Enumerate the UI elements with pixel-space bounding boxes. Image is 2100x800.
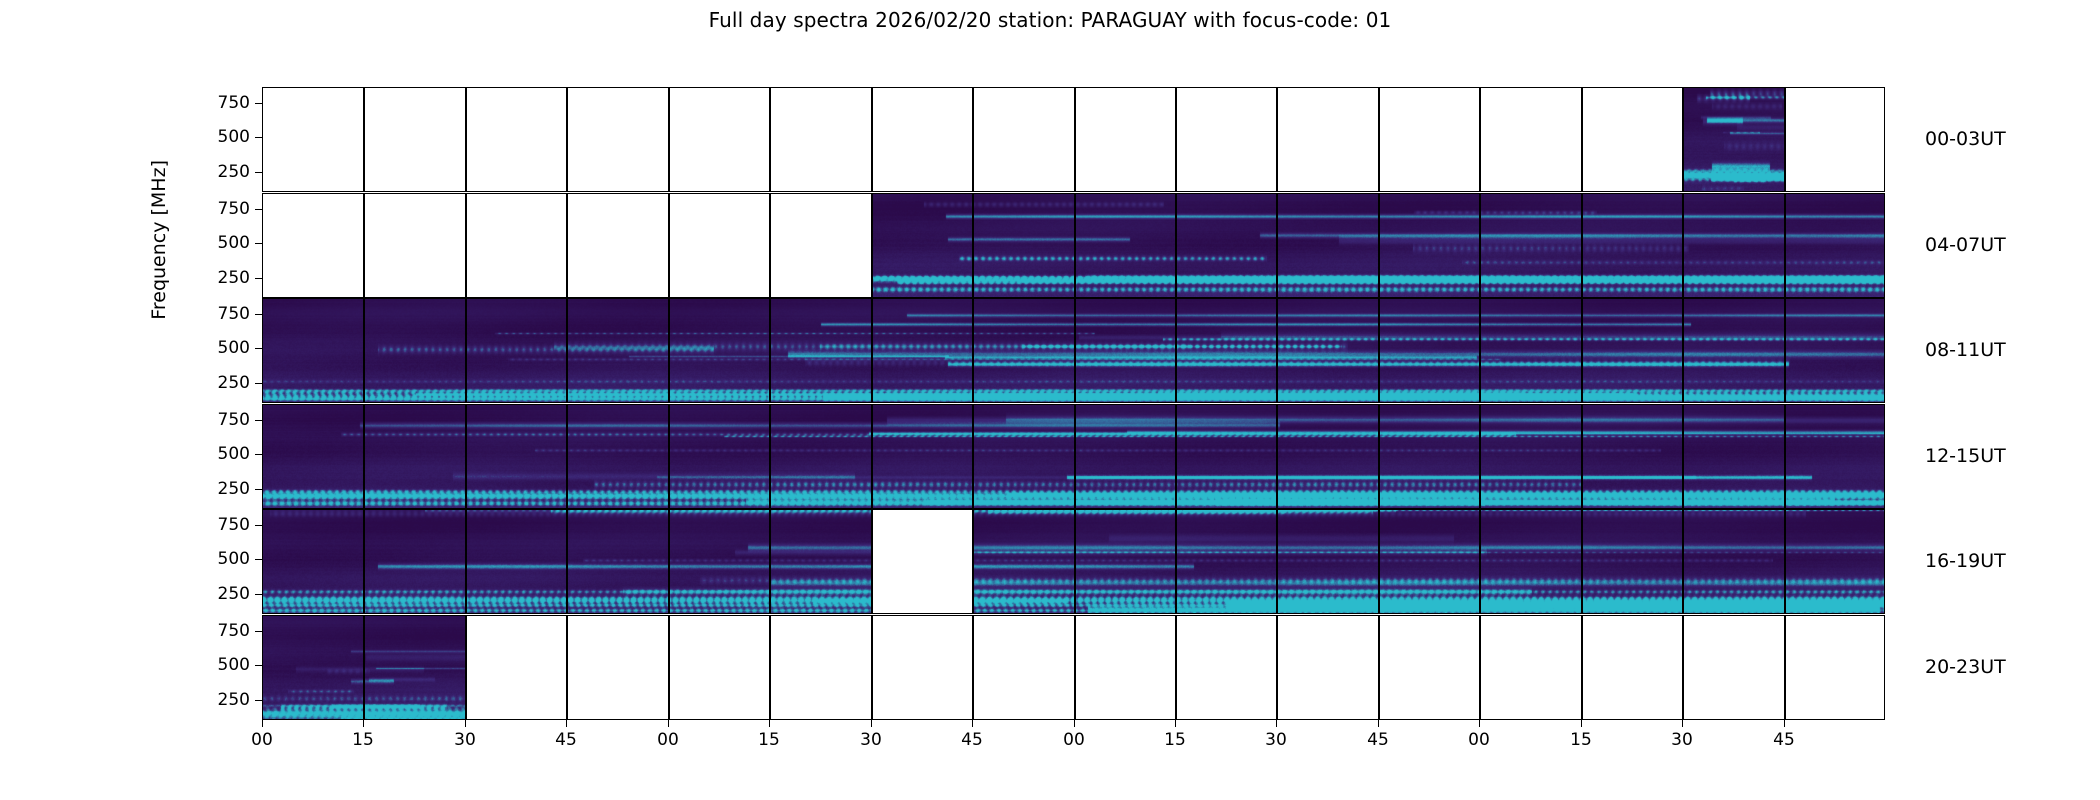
y-tick-mark: [255, 700, 262, 701]
column-divider: [1378, 299, 1379, 402]
x-tick-label: 30: [435, 730, 495, 750]
column-divider: [465, 88, 466, 191]
column-divider: [1682, 510, 1683, 613]
column-divider: [1175, 88, 1176, 191]
column-divider: [1276, 194, 1277, 297]
row-label-20-23ut: 20-23UT: [1925, 656, 2006, 678]
y-tick-label: 750: [202, 304, 250, 324]
column-divider: [465, 616, 466, 719]
column-divider: [871, 299, 872, 402]
column-divider: [1581, 194, 1582, 297]
column-divider: [1276, 510, 1277, 613]
x-tick-label: 15: [1551, 730, 1611, 750]
y-tick-label: 500: [202, 127, 250, 147]
column-divider: [1276, 299, 1277, 402]
y-tick-mark: [255, 559, 262, 560]
y-tick-label: 500: [202, 233, 250, 253]
x-tick-label: 00: [232, 730, 292, 750]
column-divider: [871, 88, 872, 191]
column-divider: [668, 88, 669, 191]
y-tick-mark: [255, 665, 262, 666]
x-tick-label: 15: [333, 730, 393, 750]
x-tick-label: 00: [638, 730, 698, 750]
column-divider: [1378, 510, 1379, 613]
column-divider: [668, 299, 669, 402]
column-divider: [1074, 510, 1075, 613]
column-divider: [1074, 616, 1075, 719]
x-tick-mark: [1276, 720, 1277, 727]
column-divider: [566, 194, 567, 297]
column-divider: [1682, 405, 1683, 508]
column-divider: [1276, 616, 1277, 719]
column-divider: [972, 194, 973, 297]
column-divider: [566, 510, 567, 613]
column-divider: [1479, 405, 1480, 508]
column-divider: [1276, 405, 1277, 508]
y-tick-label: 750: [202, 199, 250, 219]
y-tick-label: 500: [202, 655, 250, 675]
column-divider: [1175, 405, 1176, 508]
spectrogram-row-panel: [262, 193, 1885, 298]
x-tick-mark: [1682, 720, 1683, 727]
column-divider: [1378, 405, 1379, 508]
column-divider: [1581, 510, 1582, 613]
column-divider: [871, 616, 872, 719]
column-divider: [566, 616, 567, 719]
x-tick-mark: [566, 720, 567, 727]
row-label-08-11ut: 08-11UT: [1925, 339, 2006, 361]
column-divider: [1682, 88, 1683, 191]
y-tick-label: 500: [202, 338, 250, 358]
x-tick-mark: [668, 720, 669, 727]
y-tick-label: 750: [202, 93, 250, 113]
column-divider: [1276, 88, 1277, 191]
column-divider: [769, 510, 770, 613]
y-tick-mark: [255, 278, 262, 279]
x-tick-mark: [769, 720, 770, 727]
y-tick-label: 750: [202, 515, 250, 535]
column-divider: [1682, 299, 1683, 402]
x-tick-mark: [1378, 720, 1379, 727]
y-tick-mark: [255, 454, 262, 455]
x-tick-label: 30: [1652, 730, 1712, 750]
column-divider: [769, 88, 770, 191]
x-tick-mark: [465, 720, 466, 727]
x-tick-label: 15: [1145, 730, 1205, 750]
y-tick-label: 250: [202, 690, 250, 710]
y-tick-mark: [255, 209, 262, 210]
column-divider: [972, 510, 973, 613]
x-tick-label: 45: [536, 730, 596, 750]
column-divider: [1682, 616, 1683, 719]
row-label-16-19ut: 16-19UT: [1925, 550, 2006, 572]
y-tick-mark: [255, 314, 262, 315]
x-tick-label: 30: [841, 730, 901, 750]
column-divider: [1175, 616, 1176, 719]
column-divider: [769, 299, 770, 402]
column-divider: [465, 510, 466, 613]
column-divider: [668, 194, 669, 297]
column-divider: [1784, 616, 1785, 719]
spectrogram-row-panel: [262, 404, 1885, 509]
column-divider: [1784, 88, 1785, 191]
column-divider: [972, 405, 973, 508]
y-tick-mark: [255, 631, 262, 632]
column-divider: [769, 194, 770, 297]
row-label-00-03ut: 00-03UT: [1925, 128, 2006, 150]
column-divider: [1784, 405, 1785, 508]
y-tick-mark: [255, 103, 262, 104]
column-divider: [1378, 88, 1379, 191]
x-tick-label: 45: [1348, 730, 1408, 750]
column-divider: [1074, 299, 1075, 402]
column-divider: [1378, 194, 1379, 297]
column-divider: [1581, 299, 1582, 402]
x-tick-label: 45: [942, 730, 1002, 750]
spectrogram-row-panel: [262, 298, 1885, 403]
x-tick-mark: [1479, 720, 1480, 727]
y-axis-label: Frequency [MHz]: [148, 160, 170, 320]
y-tick-label: 750: [202, 410, 250, 430]
y-tick-label: 250: [202, 584, 250, 604]
y-tick-label: 750: [202, 621, 250, 641]
column-divider: [1479, 299, 1480, 402]
column-divider: [1074, 88, 1075, 191]
y-tick-mark: [255, 172, 262, 173]
x-tick-label: 30: [1246, 730, 1306, 750]
y-tick-mark: [255, 243, 262, 244]
column-divider: [363, 299, 364, 402]
x-tick-label: 00: [1044, 730, 1104, 750]
column-divider: [1479, 616, 1480, 719]
column-divider: [668, 510, 669, 613]
x-tick-mark: [1175, 720, 1176, 727]
y-tick-label: 250: [202, 162, 250, 182]
column-divider: [465, 194, 466, 297]
column-divider: [871, 194, 872, 297]
column-divider: [363, 88, 364, 191]
column-divider: [1581, 88, 1582, 191]
y-tick-label: 500: [202, 444, 250, 464]
spectrogram-row-panel: [262, 509, 1885, 614]
x-tick-label: 15: [739, 730, 799, 750]
y-tick-mark: [255, 594, 262, 595]
page-title: Full day spectra 2026/02/20 station: PAR…: [0, 8, 2100, 32]
column-divider: [566, 299, 567, 402]
column-divider: [566, 405, 567, 508]
column-divider: [769, 405, 770, 508]
column-divider: [1581, 405, 1582, 508]
column-divider: [1074, 405, 1075, 508]
y-tick-label: 250: [202, 479, 250, 499]
column-divider: [363, 405, 364, 508]
spectrogram-figure: Full day spectra 2026/02/20 station: PAR…: [0, 0, 2100, 800]
row-label-12-15ut: 12-15UT: [1925, 445, 2006, 467]
x-tick-mark: [871, 720, 872, 727]
column-divider: [465, 405, 466, 508]
column-divider: [871, 405, 872, 508]
column-divider: [1074, 194, 1075, 297]
x-tick-label: 00: [1449, 730, 1509, 750]
y-tick-mark: [255, 137, 262, 138]
column-divider: [1175, 194, 1176, 297]
spectrogram-row-panel: [262, 615, 1885, 720]
column-divider: [1175, 299, 1176, 402]
x-tick-mark: [1784, 720, 1785, 727]
column-divider: [1784, 299, 1785, 402]
column-divider: [1682, 194, 1683, 297]
column-divider: [1581, 616, 1582, 719]
x-tick-mark: [1074, 720, 1075, 727]
column-divider: [1784, 194, 1785, 297]
y-tick-label: 250: [202, 373, 250, 393]
column-divider: [668, 616, 669, 719]
y-tick-mark: [255, 489, 262, 490]
column-divider: [566, 88, 567, 191]
column-divider: [1479, 88, 1480, 191]
column-divider: [363, 510, 364, 613]
y-tick-label: 500: [202, 549, 250, 569]
y-tick-mark: [255, 383, 262, 384]
row-label-04-07ut: 04-07UT: [1925, 234, 2006, 256]
column-divider: [972, 299, 973, 402]
x-tick-mark: [363, 720, 364, 727]
column-divider: [465, 299, 466, 402]
x-tick-mark: [1581, 720, 1582, 727]
x-tick-mark: [972, 720, 973, 727]
column-divider: [1479, 194, 1480, 297]
spectrogram-row-panel: [262, 87, 1885, 192]
x-tick-mark: [262, 720, 263, 727]
column-divider: [1479, 510, 1480, 613]
column-divider: [1784, 510, 1785, 613]
x-tick-label: 45: [1754, 730, 1814, 750]
column-divider: [1175, 510, 1176, 613]
column-divider: [668, 405, 669, 508]
y-tick-label: 250: [202, 268, 250, 288]
y-tick-mark: [255, 348, 262, 349]
column-divider: [1378, 616, 1379, 719]
column-divider: [363, 616, 364, 719]
column-divider: [871, 510, 872, 613]
column-divider: [972, 616, 973, 719]
y-tick-mark: [255, 420, 262, 421]
column-divider: [972, 88, 973, 191]
column-divider: [363, 194, 364, 297]
y-tick-mark: [255, 525, 262, 526]
column-divider: [769, 616, 770, 719]
